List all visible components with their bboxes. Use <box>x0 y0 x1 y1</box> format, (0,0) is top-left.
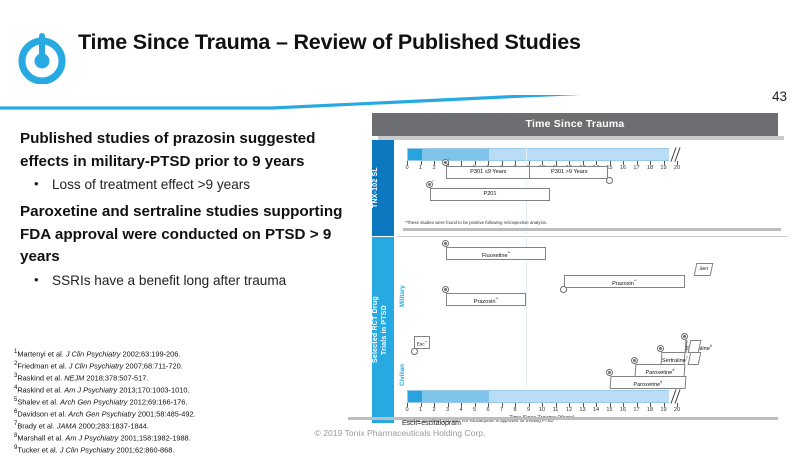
panel-civilian: Civilian Esc**Sertraline6Sertraline7Paro… <box>397 330 788 423</box>
axis-gradient-bar <box>407 390 677 403</box>
study-start-marker <box>681 333 688 340</box>
axis-tick-label: 18 <box>647 165 653 171</box>
axis-tick-label: 12 <box>566 407 572 413</box>
axis-tick-label: 0 <box>405 407 408 413</box>
study-start-marker <box>606 177 613 184</box>
axis-tick-label: 13 <box>579 407 585 413</box>
panel-military: Military Fluoxetine**Prazosin**Prazosin*… <box>397 237 788 330</box>
axis-tick-label: 10 <box>539 407 545 413</box>
figure-body: TNX-102 SL Selected RCT DrugTrials in PT… <box>372 140 788 423</box>
tonix-logo-icon <box>14 28 70 84</box>
axis-tick-label: 18 <box>647 407 653 413</box>
axis-tick-label: 1 <box>419 165 422 171</box>
axis-tick-label: 17 <box>633 407 639 413</box>
side-label-selected-rct: Selected RCT DrugTrials in PTSD <box>372 237 394 423</box>
lead-paragraph-1: Published studies of prazosin suggested … <box>20 128 360 173</box>
footnote-top: *These studies were found to be positive… <box>405 220 547 225</box>
body-copy: Published studies of prazosin suggested … <box>20 128 360 297</box>
axis-tick-label: 20 <box>674 407 680 413</box>
study-bar: Prazosin** <box>446 293 526 306</box>
study-bar: Paroxetine9 <box>609 376 686 389</box>
axis-segment <box>489 391 678 402</box>
reference-item: 5Shalev et al. Arch Gen Psychiatry 2012;… <box>14 396 274 408</box>
gridline <box>526 330 527 388</box>
retrospective-asterisk: * <box>448 157 450 162</box>
reference-item: 2Friedman et al. J Clin Psychiatry 2007;… <box>14 360 274 372</box>
axis-segment <box>422 149 490 160</box>
lead-paragraph-2: Paroxetine and sertraline studies suppor… <box>20 201 360 269</box>
study-start-marker <box>411 348 418 355</box>
bullet-2: SSRIs have a benefit long after trauma <box>20 271 360 291</box>
axis-tick-label: 0 <box>405 165 408 171</box>
axis-tick-label: 2 <box>432 165 435 171</box>
copyright-notice: © 2019 Tonix Pharmaceuticals Holding Cor… <box>0 428 800 438</box>
retrospective-asterisk: * <box>432 179 434 184</box>
axis-tick-label: 4 <box>459 407 462 413</box>
escitalopram-mini-bar: Esc** <box>414 336 430 349</box>
legend-escit: Escit=escitalopram <box>402 420 461 427</box>
axis-tick-label: 17 <box>633 165 639 171</box>
axis-tick-label: 20 <box>674 165 680 171</box>
axis-break-icon <box>688 352 702 365</box>
axis-tick-label: 6 <box>486 407 489 413</box>
time-since-trauma-figure: Time Since Trauma TNX-102 SL Selected RC… <box>372 113 788 423</box>
axis-tick-label: 8 <box>513 407 516 413</box>
axis-tick-label: 5 <box>473 407 476 413</box>
study-start-marker <box>606 369 613 376</box>
study-start-marker <box>560 286 567 293</box>
axis-break-icon <box>669 148 680 161</box>
study-bar: P201 <box>430 188 550 201</box>
axis-segment <box>408 149 422 160</box>
axis-tick-label: 16 <box>620 165 626 171</box>
page-title: Time Since Trauma – Review of Published … <box>78 30 738 55</box>
reference-item: 1Martenyi et al. J Clin Psychiatry 2002;… <box>14 348 274 360</box>
study-bar: P301 ≤9 YearsP301 >9 Years <box>446 166 608 179</box>
row-label-military: Military <box>399 263 406 307</box>
header-accent-rule <box>0 95 800 115</box>
axis-tick-label: 7 <box>500 407 503 413</box>
sertraline-mini-bar: Sert <box>694 263 714 276</box>
axis-break-icon <box>669 390 680 403</box>
study-start-marker <box>657 345 664 352</box>
axis-tick-label: 3 <box>446 407 449 413</box>
axis-segment <box>422 391 490 402</box>
axis-tick-label: 11 <box>553 407 559 413</box>
panel-tnx102: 01234567891011121314151617181920Time Sin… <box>397 140 788 237</box>
axis-tick-label: 19 <box>660 407 666 413</box>
page-number: 43 <box>772 89 787 104</box>
study-bar: Prazosin** <box>564 275 686 288</box>
study-bar: Fluoxetine** <box>446 247 546 260</box>
reference-list: 1Martenyi et al. J Clin Psychiatry 2002;… <box>14 348 274 456</box>
figure-banner: Time Since Trauma <box>372 113 778 136</box>
axis-tick-label: 9 <box>527 407 530 413</box>
axis-tick-label: 2 <box>432 407 435 413</box>
axis-tick-label: 14 <box>593 407 599 413</box>
axis-tick-label: 16 <box>620 407 626 413</box>
study-start-marker <box>442 240 449 247</box>
study-start-marker <box>442 286 449 293</box>
figure-banner-title: Time Since Trauma <box>372 113 778 136</box>
axis-tick-label: 15 <box>606 407 612 413</box>
axis-segment <box>408 391 422 402</box>
reference-item: 3Raskind et al. NEJM 2018;378:507-517. <box>14 372 274 384</box>
reference-item: 4Raskind et al. Am J Psychiatry 2013;170… <box>14 384 274 396</box>
axis-segment <box>489 149 678 160</box>
side-label-tnx102sl: TNX-102 SL <box>372 140 394 236</box>
row-label-civilian: Civilian <box>399 346 406 386</box>
axis-tick-label: 1 <box>419 407 422 413</box>
reference-item: 6Davidson et al. Arch Gen Psychiatry 200… <box>14 408 274 420</box>
axis-tick-label: 19 <box>660 165 666 171</box>
panel-divider <box>403 228 781 231</box>
bullet-1: Loss of treatment effect >9 years <box>20 175 360 195</box>
study-start-marker <box>631 357 638 364</box>
